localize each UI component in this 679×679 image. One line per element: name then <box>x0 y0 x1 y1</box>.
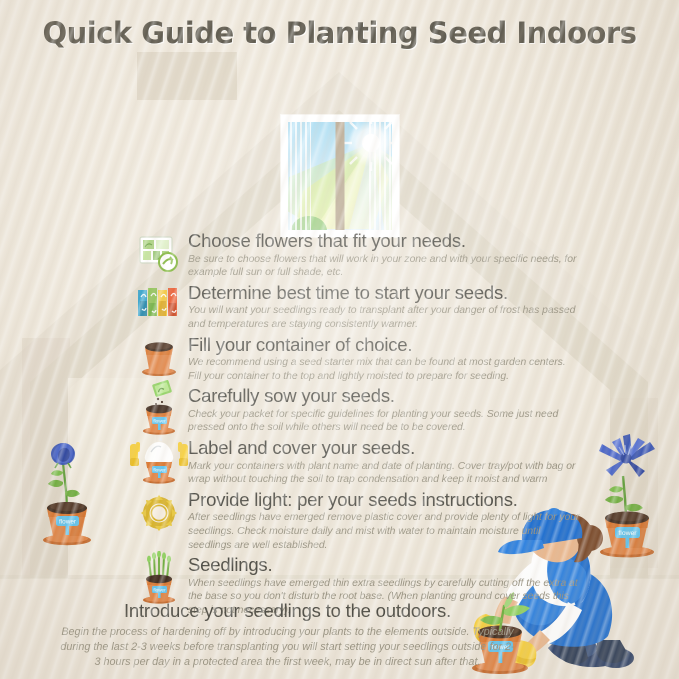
step-heading: Provide light: per your seeds instructio… <box>188 490 581 511</box>
svg-text:flower: flower <box>153 587 166 592</box>
potted-blue-rosebud: flower <box>34 418 100 546</box>
step-item: Determine best time to start your seeds.… <box>136 283 581 332</box>
step-item: flower Label and cover your seeds. Mark … <box>136 438 581 487</box>
step-heading: Seedlings. <box>188 555 581 576</box>
step-item: Fill your container of choice. We recomm… <box>136 335 581 384</box>
svg-text:flower: flower <box>59 519 77 526</box>
sunny-window <box>281 115 399 237</box>
step-item: Choose flowers that fit your needs. Be s… <box>136 231 581 280</box>
seed-display-rack-icon <box>136 233 182 277</box>
covered-pot-gloves-icon: flower <box>129 436 189 484</box>
step-body: Check your packet for specific guideline… <box>188 408 581 435</box>
outro-body: Begin the process of hardening off by in… <box>60 625 515 670</box>
steps-list: Choose flowers that fit your needs. Be s… <box>136 231 581 620</box>
sowing-seeds-icon: flower <box>136 380 182 436</box>
step-body: We recommend using a seed starter mix th… <box>188 356 581 383</box>
infographic-poster: Quick Guide to Planting Seed Indoors <box>0 0 679 679</box>
step-heading: Choose flowers that fit your needs. <box>188 231 581 252</box>
step-heading: Determine best time to start your seeds. <box>188 283 581 304</box>
window-blinds-right <box>369 119 395 233</box>
filled-pot-icon <box>136 335 182 379</box>
step-body: You will want your seedlings ready to tr… <box>188 304 581 331</box>
outro-heading: Introduce your seedlings to the outdoors… <box>60 600 515 622</box>
step-body: After seedlings have emerged remove plas… <box>188 511 581 552</box>
svg-text:flower: flower <box>153 467 166 472</box>
step-body: Mark your containers with plant name and… <box>188 460 581 487</box>
sun-light-icon <box>136 492 182 536</box>
seedlings-pot-icon: flower <box>136 551 182 605</box>
seed-packets-icon <box>136 287 182 331</box>
page-title: Quick Guide to Planting Seed Indoors <box>0 16 679 50</box>
step-heading: Label and cover your seeds. <box>188 438 581 459</box>
outro-section: Introduce your seedlings to the outdoors… <box>60 600 515 670</box>
step-item: Provide light: per your seeds instructio… <box>136 490 581 552</box>
step-item: flower Carefully sow your seeds. Check y… <box>136 386 581 435</box>
step-heading: Carefully sow your seeds. <box>188 386 581 407</box>
step-body: Be sure to choose flowers that will work… <box>188 253 581 280</box>
window-blinds-left <box>285 119 311 233</box>
step-heading: Fill your container of choice. <box>188 335 581 356</box>
svg-text:flower: flower <box>153 419 166 424</box>
